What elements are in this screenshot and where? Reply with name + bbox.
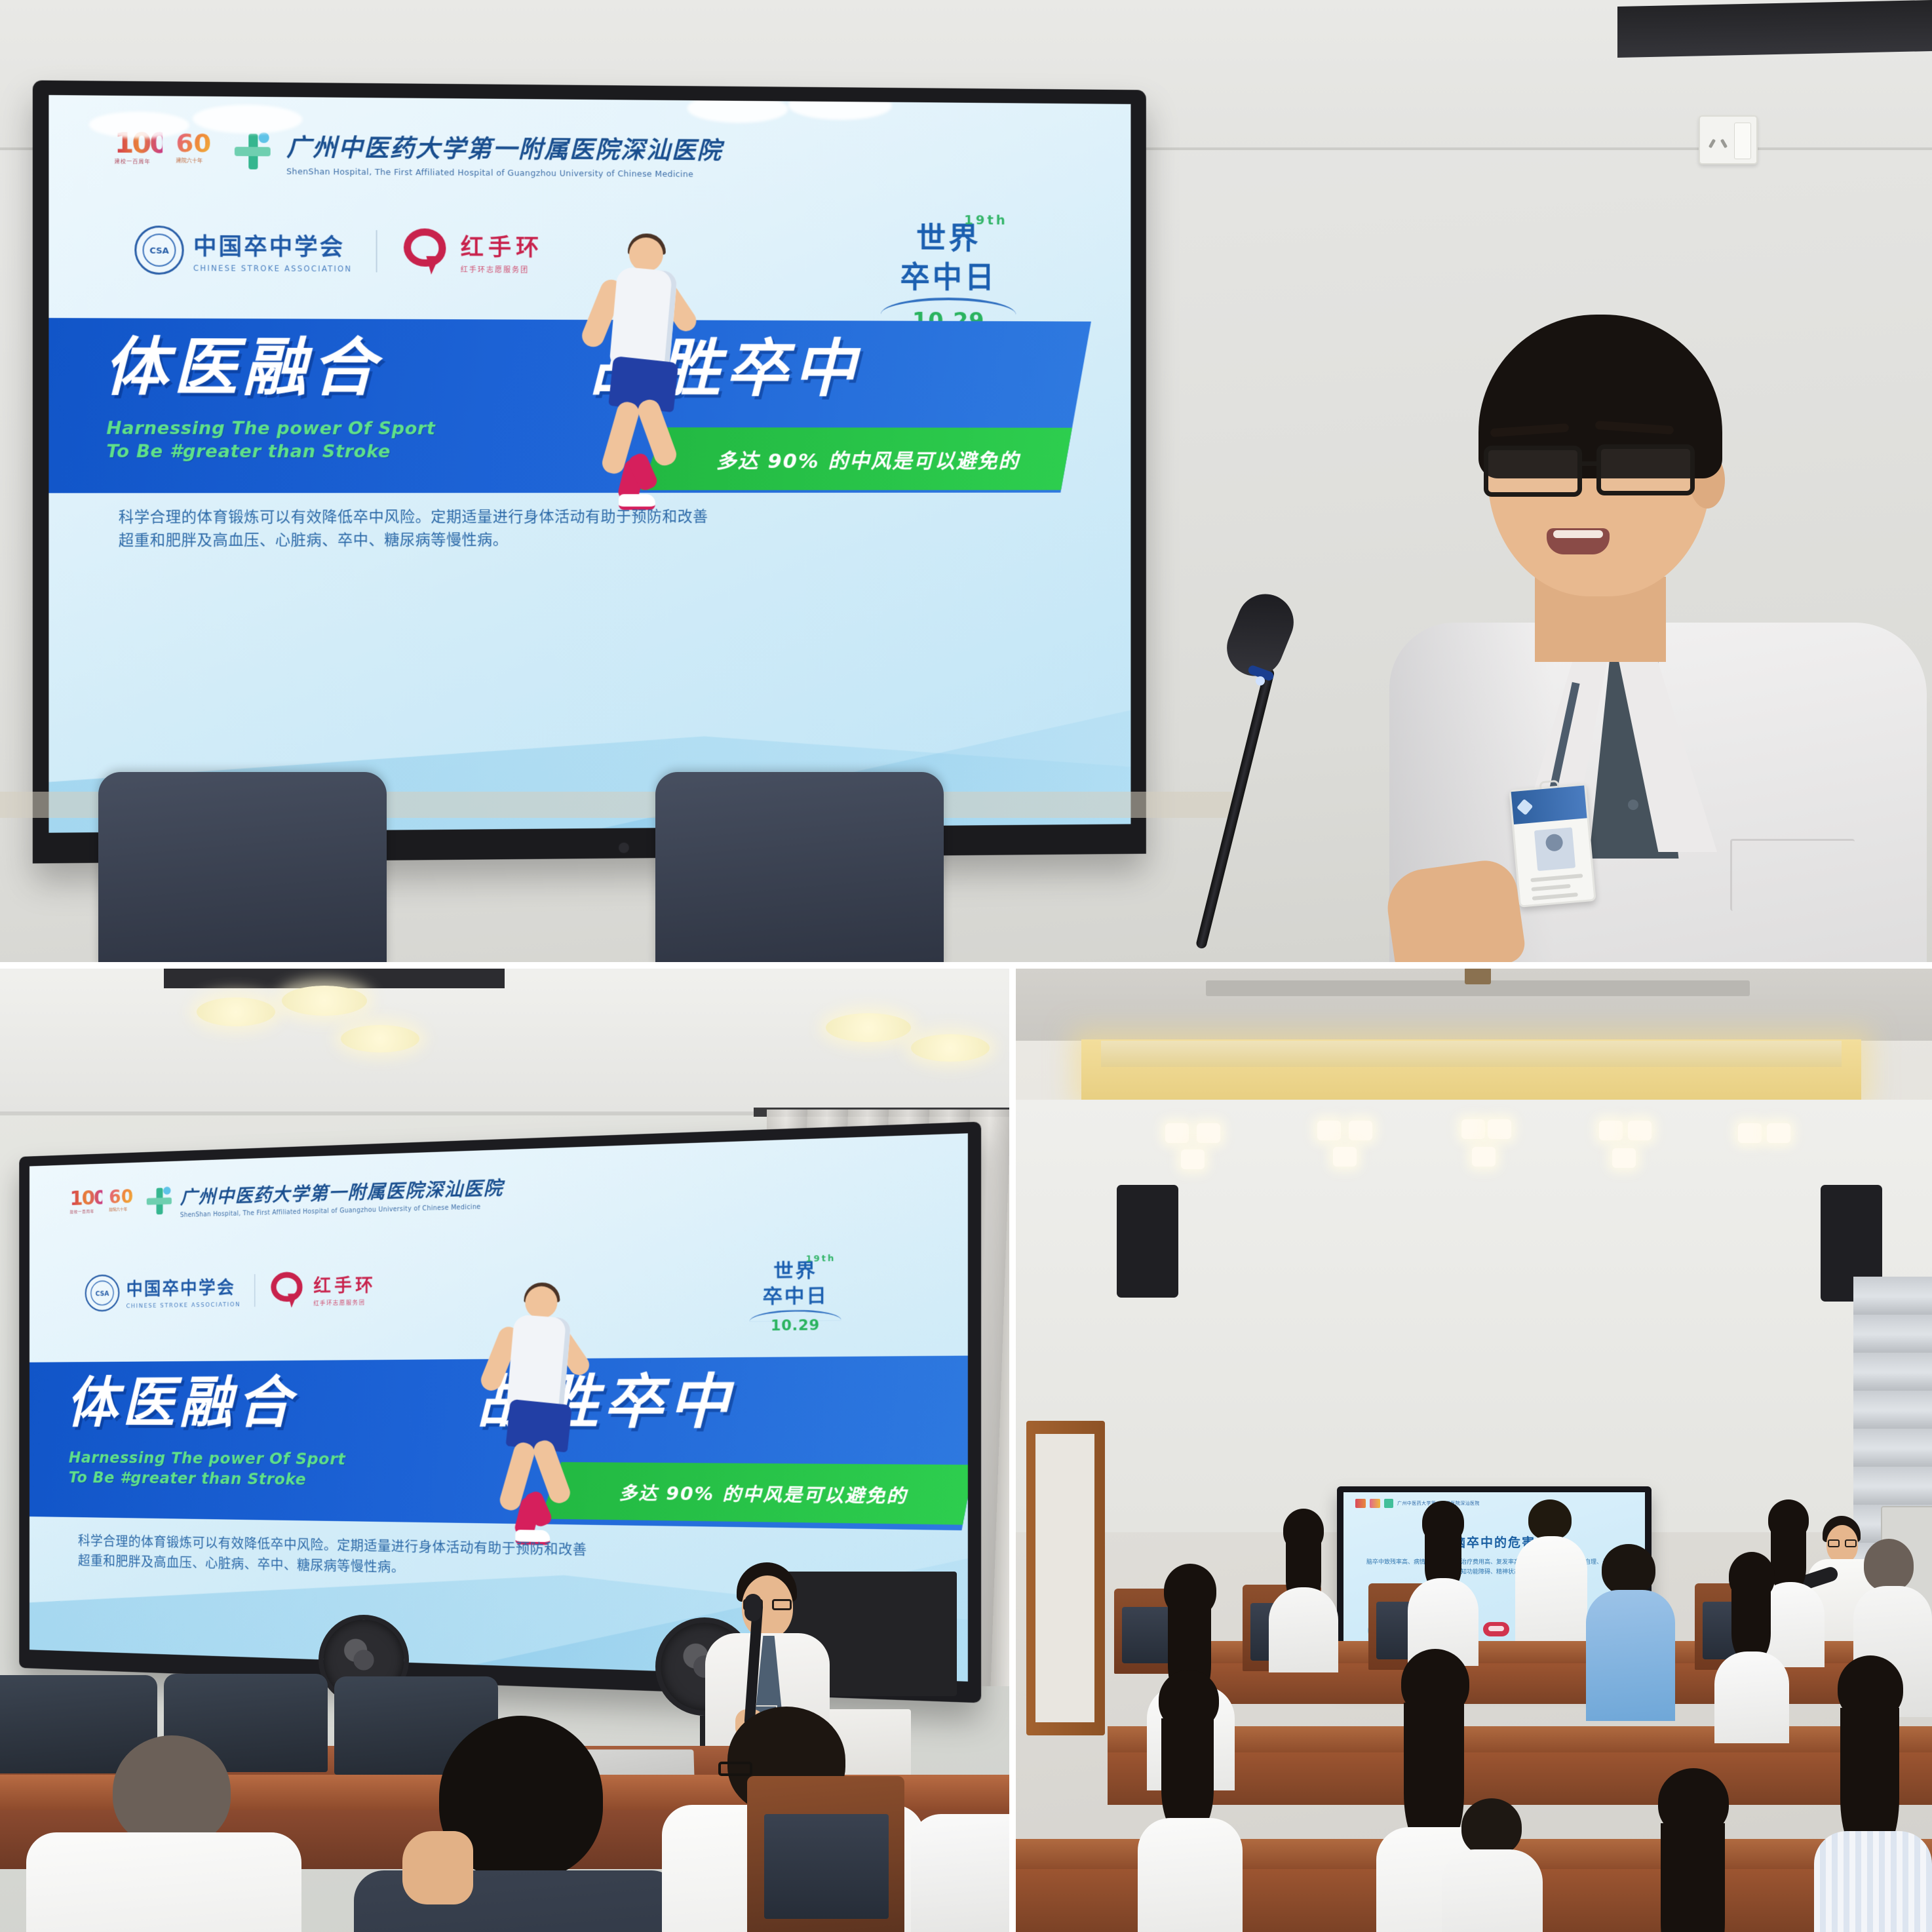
wsd-line1-wrap: 世界 19th	[916, 214, 980, 258]
hospital-header: 100 建校一百周年 60 建院六十年 广州中医药大学第一附属医院深汕医院	[115, 126, 723, 179]
wsd-superscript: 19th	[964, 212, 1007, 227]
rhb-text: 红手环 红手环志愿服务团	[313, 1270, 376, 1307]
rhb-name-sub: 红手环志愿服务团	[461, 264, 543, 275]
front-wall	[1009, 1100, 1932, 1532]
logo-divider	[376, 230, 377, 272]
ceiling-light-icon	[911, 1034, 990, 1062]
association-logos-row: 中国卒中学会 CHINESE STROKE ASSOCIATION 红手环 红手…	[85, 1269, 377, 1312]
rhb-text: 红手环 红手环志愿服务团	[461, 229, 543, 275]
ceiling-spotlight-icon	[1349, 1121, 1372, 1140]
mouth	[1547, 528, 1610, 554]
green-tag-text: 多达 90% 的中风是可以避免的	[619, 1478, 907, 1507]
eyeglasses-icon	[1828, 1539, 1857, 1547]
chinese-stroke-association-logo: 中国卒中学会 CHINESE STROKE ASSOCIATION	[85, 1272, 241, 1312]
eyeglasses-icon	[718, 1762, 797, 1776]
medical-cross-icon	[145, 1186, 174, 1217]
hand	[402, 1831, 473, 1904]
meeting-chair	[655, 772, 944, 962]
logo-60-number: 60	[176, 130, 218, 156]
banner-subtitle-line2: To Be #greater than Stroke	[106, 440, 435, 463]
badge-textline	[1530, 874, 1583, 882]
hospital-name-en: ShenShan Hospital, The First Affiliated …	[286, 166, 722, 180]
head	[113, 1735, 231, 1847]
slide-logo-row: 广州中医药大学第一附属医院深汕医院	[1355, 1499, 1480, 1508]
rhb-name-cn: 红手环	[461, 229, 543, 263]
badge-header	[1511, 785, 1587, 824]
slide-second-body: 脑卒中致残率高、病情反复且凶险、治疗费用高、复发率高且危害大；患者生活不能自理、…	[1366, 1558, 1627, 1578]
photo-collage: 100 建校一百周年 60 建院六十年 广州中医药大学第一附属医院深汕医院	[0, 0, 1932, 1932]
ceiling-spotlight-icon	[1461, 1119, 1485, 1139]
medical-cross-icon	[1384, 1499, 1393, 1508]
anniversary-60-logo-icon: 60 建院六十年	[109, 1187, 138, 1218]
anniversary-60-logo-icon: 60 建院六十年	[176, 130, 218, 172]
badge-textline	[1532, 893, 1578, 900]
banner-title-row: 体医融合 战胜卒中	[104, 336, 860, 400]
ceiling-spotlight-icon	[1628, 1121, 1652, 1140]
banner-subtitle-en: Harnessing The power Of Sport To Be #gre…	[69, 1448, 346, 1490]
csa-name-en: CHINESE STROKE ASSOCIATION	[126, 1301, 241, 1309]
ceiling-cove-inner	[1101, 1041, 1842, 1067]
logo-60-sub: 建院六十年	[176, 157, 218, 164]
csa-name-cn: 中国卒中学会	[193, 228, 353, 263]
wall-mounted-display: 100 建校一百周年 60 建院六十年 广州中医药大学第一附属医院深汕医院	[33, 81, 1146, 864]
banner-title-left: 体医融合	[104, 336, 380, 400]
staff-id-badge	[1509, 783, 1596, 908]
slide-main: 100 建校一百周年 60 建院六十年 广州中医药大学第一附属医院深汕医院	[48, 95, 1130, 833]
display-sensor-dot	[619, 843, 629, 853]
light-blue-shirt	[1586, 1590, 1675, 1721]
ceiling-spotlight-icon	[1599, 1121, 1623, 1140]
banner-title-row: 体医融合 战胜卒中	[66, 1372, 735, 1432]
white-shirt	[26, 1832, 301, 1932]
power-socket-icon	[1699, 115, 1758, 164]
white-shirt	[1714, 1652, 1789, 1743]
ceiling-light-icon	[282, 986, 367, 1016]
panel-seam-horizontal	[0, 962, 1932, 969]
striped-shirt	[1814, 1831, 1932, 1932]
banner-title-left: 体医融合	[66, 1374, 296, 1431]
csa-text: 中国卒中学会 CHINESE STROKE ASSOCIATION	[193, 228, 353, 274]
csa-seal-icon	[85, 1274, 120, 1311]
white-shirt	[1138, 1818, 1243, 1932]
ceiling-spotlight-icon	[1612, 1148, 1636, 1168]
panel-bottom-left-room-wide: 100 建校一百周年 60 建院六十年 广州中医药大学第一附属医院深汕医院 Sh…	[0, 962, 1009, 1932]
hospital-name-cn: 广州中医药大学第一附属医院深汕医院	[286, 127, 722, 166]
ceiling-vent	[1206, 980, 1750, 996]
panel-top-speaker-closeup: 100 建校一百周年 60 建院六十年 广州中医药大学第一附属医院深汕医院	[0, 0, 1932, 962]
wsd-line2: 卒中日	[871, 253, 1026, 297]
banner-subtitle-line1: Harnessing The power Of Sport	[106, 417, 435, 440]
wsd-date: 10.29	[743, 1316, 848, 1334]
anniversary-100-logo-icon: 100 建校一百周年	[70, 1188, 103, 1218]
csa-text: 中国卒中学会 CHINESE STROKE ASSOCIATION	[126, 1273, 241, 1309]
bottom-panel-row: 100 建校一百周年 60 建院六十年 广州中医药大学第一附属医院深汕医院 Sh…	[0, 962, 1932, 1932]
audience-member-foreground	[347, 1716, 688, 1932]
hospital-name-block: 广州中医药大学第一附属医院深汕医院 ShenShan Hospital, The…	[286, 127, 722, 179]
coat-button	[1628, 800, 1638, 810]
socket-switch	[1734, 123, 1751, 159]
eyeglasses-icon	[1480, 444, 1713, 501]
ceiling-spotlight-icon	[1488, 1119, 1511, 1139]
coat-pocket	[1730, 839, 1855, 911]
white-shirt	[1442, 1849, 1543, 1932]
wsd-line2: 卒中日	[743, 1280, 848, 1309]
panel-seam-vertical	[1009, 962, 1016, 1932]
ceiling-light-icon	[197, 997, 275, 1026]
red-hand-ring-logo: 红手环 红手环志愿服务团	[269, 1269, 377, 1309]
microphone-indicator	[1256, 676, 1265, 686]
green-tag-text: 多达 90% 的中风是可以避免的	[716, 444, 1020, 474]
red-hand-ring-logo: 红手环 红手环志愿服务团	[401, 227, 543, 276]
audience-member	[911, 1801, 1009, 1932]
ceiling-spotlight-icon	[1181, 1150, 1205, 1169]
ceiling-spotlight-icon	[1165, 1123, 1189, 1143]
speech-bubble-icon	[401, 227, 452, 276]
slide-second-title: 脑卒中的危害	[1343, 1533, 1645, 1551]
world-stroke-day-badge: 世界 19th 卒中日 10.29	[743, 1254, 848, 1334]
white-shirt	[1269, 1587, 1338, 1672]
medical-cross-icon	[232, 131, 273, 172]
display-screen: 100 建校一百周年 60 建院六十年 广州中医药大学第一附属医院深汕医院	[48, 95, 1130, 833]
ceiling-light-icon	[826, 1013, 911, 1042]
panel-bottom-right-audience-view: 广州中医药大学第一附属医院深汕医院 脑卒中的危害 脑卒中致残率高、病情反复且凶险…	[1009, 962, 1932, 1932]
ceiling-dark-bar	[1617, 0, 1932, 58]
ceiling-spotlight-icon	[1738, 1123, 1762, 1143]
banner-subtitle-line2: To Be #greater than Stroke	[69, 1467, 346, 1490]
hospital-name-block: 广州中医药大学第一附属医院深汕医院 ShenShan Hospital, The…	[180, 1172, 503, 1218]
rhb-name-sub: 红手环志愿服务团	[313, 1298, 376, 1307]
running-athlete-icon	[573, 237, 723, 512]
wall-speaker-icon	[1117, 1185, 1178, 1298]
anniversary-60-logo-icon	[1370, 1499, 1380, 1508]
badge-textline	[1531, 884, 1570, 891]
logo-60-sub: 建院六十年	[109, 1207, 138, 1212]
white-shirt	[1515, 1536, 1587, 1641]
logo-60-number: 60	[109, 1187, 138, 1207]
running-athlete-icon	[473, 1285, 615, 1549]
microphone-icon	[744, 1594, 762, 1621]
chair-cushion	[764, 1814, 889, 1919]
badge-photo	[1534, 827, 1575, 871]
banner-subtitle-en: Harnessing The power Of Sport To Be #gre…	[106, 417, 435, 463]
chinese-stroke-association-logo: 中国卒中学会 CHINESE STROKE ASSOCIATION	[134, 225, 352, 275]
slide-body-text: 科学合理的体育锻炼可以有效降低卒中风险。定期适量进行身体活动有助于预防和改善超重…	[78, 1531, 589, 1581]
csa-name-en: CHINESE STROKE ASSOCIATION	[193, 263, 353, 273]
ceiling-spotlight-icon	[1197, 1123, 1220, 1143]
wooden-door	[1026, 1421, 1105, 1735]
anniversary-100-logo-icon	[1355, 1499, 1366, 1508]
hospital-header: 100 建校一百周年 60 建院六十年 广州中医药大学第一附属医院深汕医院 Sh…	[70, 1172, 503, 1222]
world-stroke-day-badge: 世界 19th 卒中日 10.29	[871, 214, 1026, 334]
wsd-superscript: 19th	[806, 1253, 836, 1264]
rhb-name-cn: 红手环	[313, 1270, 376, 1298]
logo-100-number: 100	[70, 1188, 103, 1208]
socket-holes	[1707, 127, 1733, 153]
association-logos-row: 中国卒中学会 CHINESE STROKE ASSOCIATION 红手环	[134, 225, 543, 277]
slide-main-banner: 体医融合 战胜卒中 Harnessing The power Of Sport …	[48, 318, 1091, 493]
audience-member	[26, 1735, 301, 1932]
ceiling-spotlight-icon	[1317, 1121, 1341, 1140]
ceiling-spotlight-icon	[1767, 1123, 1790, 1143]
csa-name-cn: 中国卒中学会	[126, 1273, 241, 1301]
slide-body-text: 科学合理的体育锻炼可以有效降低卒中风险。定期适量进行身体活动有助于预防和改善超重…	[119, 506, 713, 552]
csa-seal-icon	[134, 225, 184, 275]
speech-bubble-icon	[269, 1271, 307, 1309]
wsd-line1-wrap: 世界 19th	[773, 1255, 817, 1284]
banner-subtitle-line1: Harnessing The power Of Sport	[69, 1448, 346, 1470]
white-shirt	[911, 1814, 1009, 1932]
ceiling-spotlight-icon	[1472, 1147, 1496, 1167]
ceiling-light-icon	[341, 1025, 419, 1053]
ceiling-spotlight-icon	[1333, 1147, 1357, 1167]
meeting-chair	[98, 772, 387, 962]
speaker-person	[1363, 315, 1927, 962]
